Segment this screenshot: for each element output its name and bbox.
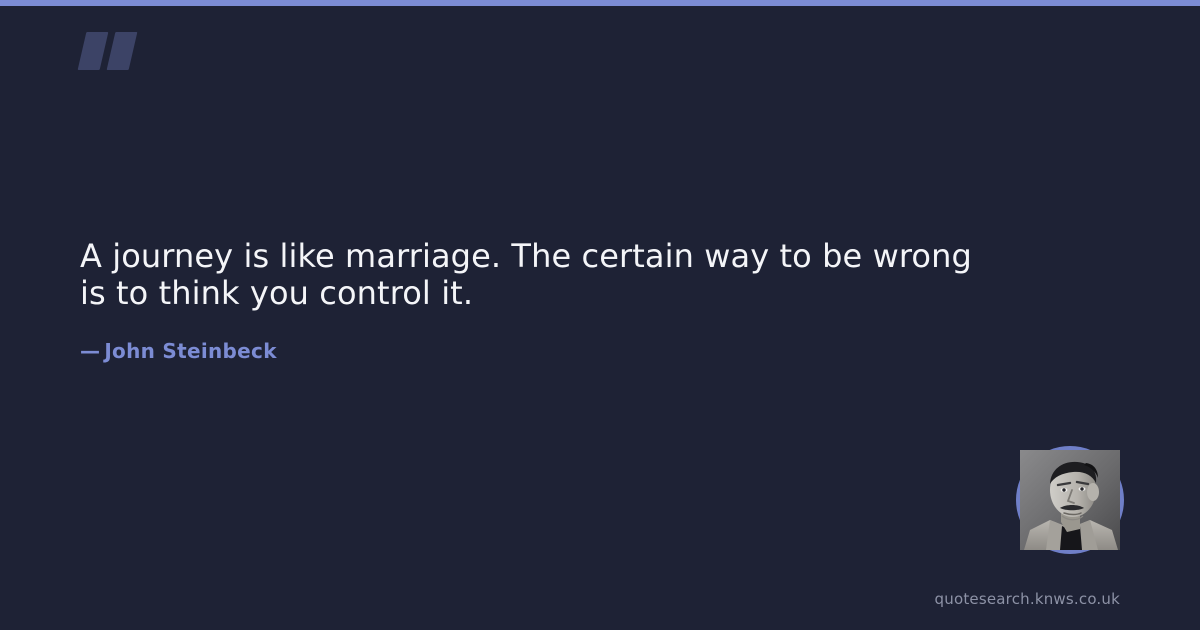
portrait-photo	[1020, 450, 1120, 550]
quote-line-2: is to think you control it.	[80, 275, 1030, 312]
site-watermark: quotesearch.knws.co.uk	[935, 590, 1120, 608]
quote-line-1: A journey is like marriage. The certain …	[80, 238, 1030, 275]
portrait-illustration-icon	[1020, 450, 1120, 550]
author-dash: —	[80, 339, 100, 363]
quote-block: A journey is like marriage. The certain …	[80, 238, 1030, 312]
author-name: John Steinbeck	[104, 339, 276, 363]
author-portrait	[1016, 446, 1124, 554]
top-accent-bar	[0, 0, 1200, 6]
quote-mark-stroke-right	[107, 32, 138, 70]
quote-mark-stroke-left	[78, 32, 109, 70]
author-attribution: —John Steinbeck	[80, 339, 277, 363]
open-quote-mark-icon	[78, 20, 148, 82]
